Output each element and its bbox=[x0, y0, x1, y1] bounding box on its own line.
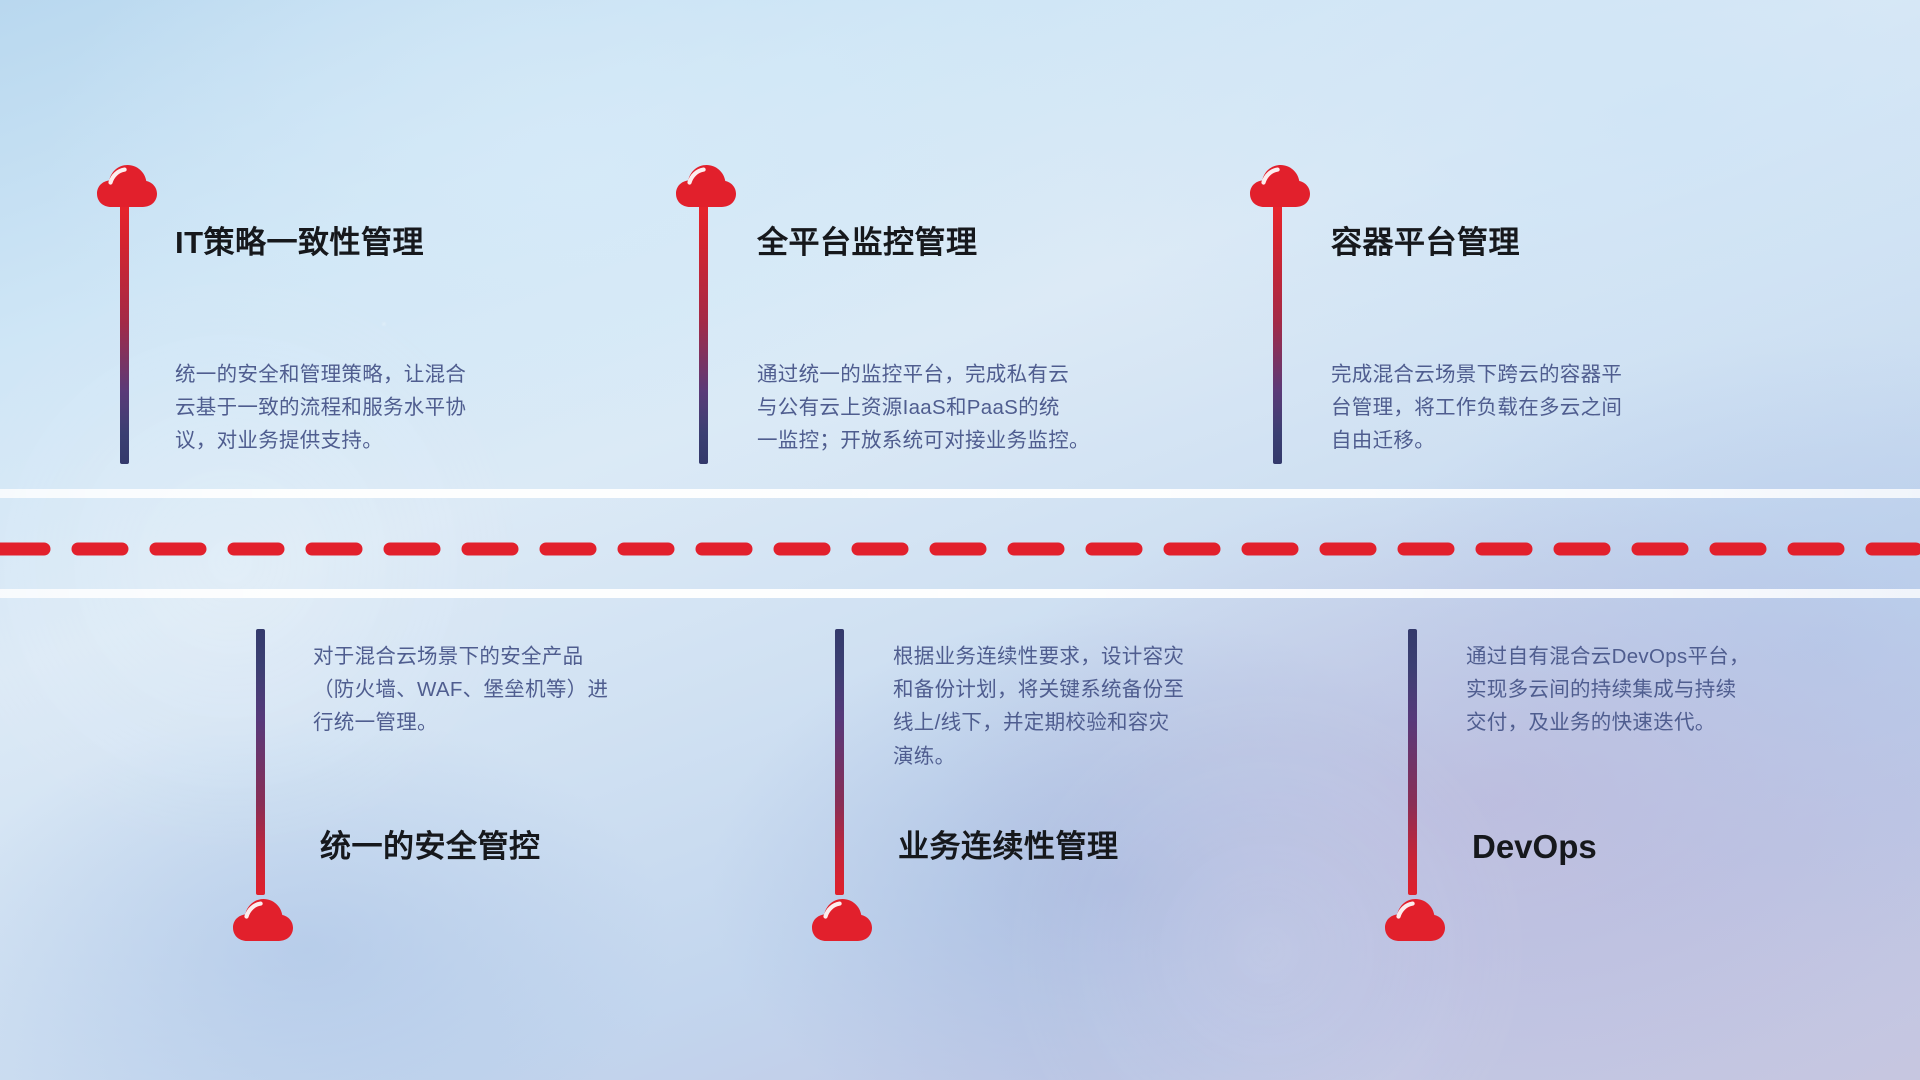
cloud-icon bbox=[675, 163, 737, 209]
divider-band-lower bbox=[0, 589, 1920, 598]
cloud-icon bbox=[811, 897, 873, 943]
cloud-icon bbox=[1249, 163, 1311, 209]
panel-title: DevOps bbox=[1472, 827, 1597, 867]
panel-stem bbox=[1408, 629, 1417, 895]
panel-stem bbox=[699, 205, 708, 464]
cloud-icon bbox=[232, 897, 294, 943]
panel-title: 统一的安全管控 bbox=[320, 828, 541, 865]
panel-body: 通过自有混合云DevOps平台， 实现多云间的持续集成与持续 交付，及业务的快速… bbox=[1466, 640, 1896, 740]
panel-title: 业务连续性管理 bbox=[898, 828, 1119, 865]
divider-band-upper bbox=[0, 489, 1920, 498]
cloud-icon bbox=[1384, 897, 1446, 943]
panel-stem bbox=[835, 629, 844, 895]
panel-title: 容器平台管理 bbox=[1331, 224, 1520, 261]
panel-body: 通过统一的监控平台，完成私有云 与公有云上资源IaaS和PaaS的统 一监控；开… bbox=[757, 358, 1212, 458]
panel-body: 对于混合云场景下的安全产品 （防火墙、WAF、堡垒机等）进 行统一管理。 bbox=[313, 640, 743, 740]
panel-stem bbox=[1273, 205, 1282, 464]
infographic-canvas: IT策略一致性管理 统一的安全和管理策略，让混合 云基于一致的流程和服务水平协 … bbox=[0, 0, 1920, 1080]
panel-title: IT策略一致性管理 bbox=[175, 224, 424, 261]
panel-body: 完成混合云场景下跨云的容器平 台管理，将工作负载在多云之间 自由迁移。 bbox=[1331, 358, 1761, 458]
panel-title: 全平台监控管理 bbox=[757, 224, 978, 261]
panel-body: 根据业务连续性要求，设计容灾 和备份计划，将关键系统备份至 线上/线下，并定期校… bbox=[893, 640, 1323, 773]
dashed-divider-line bbox=[0, 542, 1920, 556]
panel-stem bbox=[256, 629, 265, 895]
cloud-icon bbox=[96, 163, 158, 209]
panel-stem bbox=[120, 205, 129, 464]
panel-body: 统一的安全和管理策略，让混合 云基于一致的流程和服务水平协 议，对业务提供支持。 bbox=[175, 358, 605, 458]
